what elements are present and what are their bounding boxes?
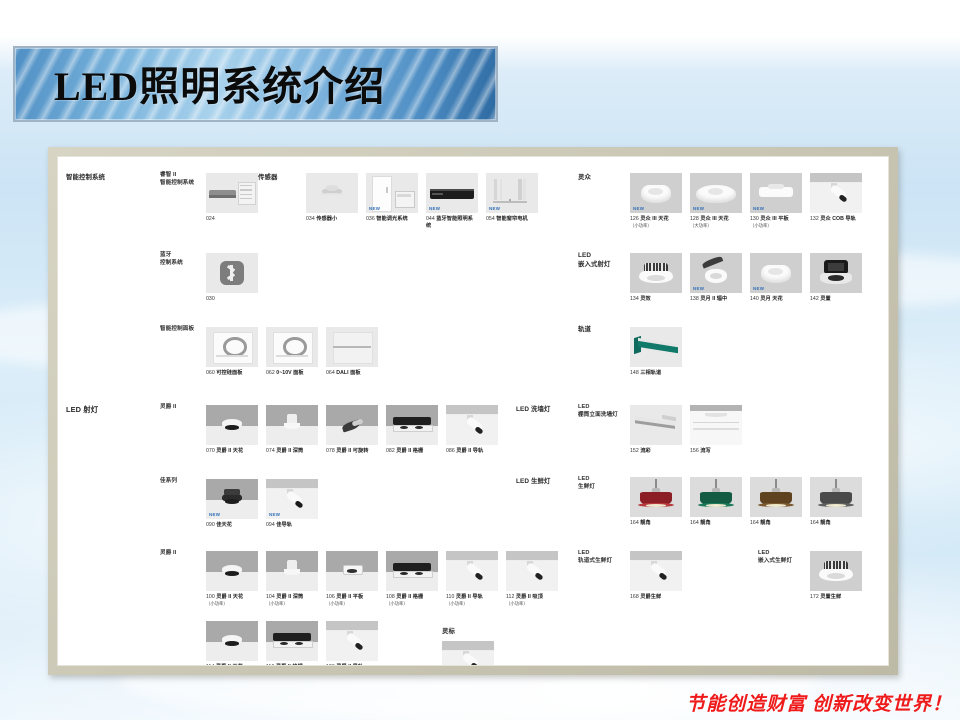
product-name: 靓角	[640, 520, 650, 526]
product-item[interactable]: 074 灵爵 II 深筒	[266, 405, 318, 455]
product-item[interactable]: NEW054 智能窗帘电机	[486, 173, 538, 230]
product-caption: 164 靓角	[690, 520, 742, 527]
catalog-sheet: 智能控制系统睿智 II 智能控制系统024蓝牙 控制系统030智能控制面板060…	[57, 156, 889, 666]
product-name: 智能调光系统	[376, 216, 407, 222]
product-caption: 082 灵爵 II 格栅	[386, 448, 438, 455]
product-thumbnail[interactable]: NEW	[266, 479, 318, 519]
product-caption: 164 靓角	[630, 520, 682, 527]
product-name: 靓角	[820, 520, 830, 526]
product-name: 灵爵 II 导轨	[456, 594, 483, 600]
product-thumbnail[interactable]: NEW	[750, 253, 802, 293]
product-caption: 100 灵爵 II 天花（小功率）	[206, 594, 258, 607]
product-note: （小功率）	[506, 601, 558, 607]
product-thumbnail[interactable]	[326, 551, 378, 591]
product-silhouette-downlight	[206, 551, 258, 591]
product-code: 054	[486, 216, 496, 222]
product-caption: 062 0~10V 面板	[266, 370, 318, 377]
product-thumbnail[interactable]: NEW	[690, 253, 742, 293]
product-silhouette-black-cob	[810, 253, 862, 293]
product-silhouette-grille-2	[386, 551, 438, 591]
product-caption: 132 灵众 COB 导轨	[810, 216, 862, 223]
product-item[interactable]: NEW094 佳导轨	[266, 479, 318, 529]
product-silhouette-dial-panel	[266, 327, 318, 367]
product-silhouette-deep-cup	[266, 551, 318, 591]
product-silhouette-downlight	[206, 405, 258, 445]
product-item[interactable]: 062 0~10V 面板	[266, 327, 318, 377]
product-code: 130	[750, 216, 760, 222]
product-item[interactable]: 064 DALI 面板	[326, 327, 378, 377]
product-item[interactable]: NEW128 灵众 III 天花（大功率）	[690, 173, 742, 229]
product-caption: 078 灵爵 II 可旋转	[326, 448, 378, 455]
product-code: 086	[446, 448, 456, 454]
product-thumbnail[interactable]	[690, 477, 742, 517]
product-name: 灵爵 II 导轨	[456, 448, 483, 454]
product-name: 灵爵 II 平板	[336, 594, 363, 600]
product-row: NEW126 灵众 III 天花（小功率）NEW128 灵众 III 天花（大功…	[630, 173, 870, 229]
product-silhouette-wallwasher	[630, 405, 682, 445]
product-caption: 172 灵置生鲜	[810, 594, 862, 601]
new-badge: NEW	[693, 206, 704, 211]
product-code: 064	[326, 370, 336, 376]
product-item[interactable]: 082 灵爵 II 格栅	[386, 405, 438, 455]
product-code: 112	[506, 594, 516, 600]
subcategory-label: 佳系列	[160, 477, 177, 485]
new-badge: NEW	[269, 512, 280, 517]
catalog-picture-frame: 智能控制系统睿智 II 智能控制系统024蓝牙 控制系统030智能控制面板060…	[48, 147, 898, 675]
product-row: 024	[206, 173, 266, 223]
product-item[interactable]: 168 灵爵生鲜	[630, 551, 682, 601]
product-caption: 036 智能调光系统	[366, 216, 418, 223]
product-code: 074	[266, 448, 276, 454]
product-code: 024	[206, 216, 215, 222]
product-item[interactable]: 112 灵爵 II 吸顶（小功率）	[506, 551, 558, 607]
product-thumbnail[interactable]	[810, 477, 862, 517]
product-name: 智能窗帘电机	[496, 216, 527, 222]
product-name: 传感器小	[316, 216, 337, 222]
product-name: 灵爵 II 吸顶	[516, 594, 543, 600]
product-row: 134 灵效NEW138 灵月 II 辐中NEW140 灵月 天花142 灵置	[630, 253, 870, 303]
product-code: 060	[206, 370, 216, 376]
product-thumbnail[interactable]	[326, 621, 378, 661]
product-code: 094	[266, 522, 276, 528]
product-thumbnail[interactable]	[442, 641, 494, 666]
product-thumbnail[interactable]: NEW	[206, 479, 258, 519]
product-thumbnail[interactable]	[206, 551, 258, 591]
slide-background: LED照明系统介绍 智能控制系统睿智 II 智能控制系统024蓝牙 控制系统03…	[0, 0, 960, 720]
product-code: 036	[366, 216, 376, 222]
product-thumbnail[interactable]: NEW	[630, 173, 682, 213]
product-item[interactable]: NEW130 灵众 III 平板（小功率）	[750, 173, 802, 229]
product-thumbnail[interactable]	[206, 405, 258, 445]
product-caption: 138 灵月 II 辐中	[690, 296, 742, 303]
product-thumbnail[interactable]	[630, 253, 682, 293]
product-item[interactable]: 152 流彩	[630, 405, 682, 455]
category-label: 灵众	[578, 173, 591, 182]
product-name: 灵爵 II 可旋转	[336, 448, 368, 454]
category-label: LED 射灯	[66, 405, 98, 416]
product-silhouette-pendant-brown	[750, 477, 802, 517]
product-thumbnail[interactable]	[630, 477, 682, 517]
product-row: 060 可控硅面板062 0~10V 面板064 DALI 面板	[206, 327, 386, 377]
product-item[interactable]: 086 灵爵 II 导轨	[446, 405, 498, 455]
product-note: （小功率）	[750, 223, 802, 229]
product-code: 164	[810, 520, 820, 526]
product-code: 132	[810, 216, 820, 222]
product-name: 灵月 II 辐中	[700, 296, 727, 302]
category-label: LED 生鲜灯	[516, 477, 550, 486]
product-name: 灵置生鲜	[820, 594, 841, 600]
product-code: 116	[266, 664, 276, 666]
product-item[interactable]: 164 靓角	[750, 477, 802, 527]
product-thumbnail[interactable]	[630, 551, 682, 591]
product-item[interactable]: NEW140 灵月 天花	[750, 253, 802, 303]
product-silhouette-grille-2	[266, 621, 318, 661]
new-badge: NEW	[369, 206, 380, 211]
category-label: 传感器	[258, 173, 277, 182]
new-badge: NEW	[693, 286, 704, 291]
product-caption: 120 灵爵 II 导轨（大功率）	[326, 664, 378, 666]
product-thumbnail[interactable]: NEW	[750, 173, 802, 213]
product-caption: 024	[206, 216, 258, 223]
product-code: 164	[750, 520, 760, 526]
product-thumbnail[interactable]	[326, 327, 378, 367]
product-row: 164 靓角164 靓角164 靓角164 靓角	[630, 477, 870, 527]
category-label: 智能控制系统	[66, 173, 105, 182]
subcategory-label: 灵爵 II	[160, 403, 176, 411]
product-thumbnail[interactable]: NEW	[426, 173, 478, 213]
product-code: 090	[206, 522, 216, 528]
subcategory-label: LED 轨道式生鲜灯	[578, 549, 612, 566]
product-code: 110	[446, 594, 456, 600]
product-code: 106	[326, 594, 336, 600]
product-code: 034	[306, 216, 316, 222]
product-name: 灵众 III 天花	[640, 216, 668, 222]
product-silhouette-track-spot	[446, 405, 498, 445]
product-code: 164	[630, 520, 640, 526]
product-thumbnail[interactable]	[266, 327, 318, 367]
product-name: 灵爵 II 天花	[216, 448, 243, 454]
product-name: 灵爵 II 天花	[216, 664, 243, 666]
product-note: （小功率）	[630, 223, 682, 229]
subcategory-label: 灵爵 II	[160, 549, 176, 557]
product-silhouette-track-spot	[442, 641, 494, 666]
product-item[interactable]: 078 灵爵 II 可旋转	[326, 405, 378, 455]
product-thumbnail[interactable]	[206, 173, 258, 213]
product-thumbnail[interactable]	[326, 405, 378, 445]
product-caption: 094 佳导轨	[266, 522, 318, 529]
product-code: 142	[810, 296, 820, 302]
category-label: LED 嵌入式射灯	[578, 251, 610, 270]
product-name: 佳导轨	[276, 522, 292, 528]
product-silhouette-flat-box	[326, 551, 378, 591]
product-row: 100 灵爵 II 天花（小功率）104 灵爵 II 深筒（小功率）106 灵爵…	[206, 551, 566, 607]
product-thumbnail[interactable]: NEW	[366, 173, 418, 213]
subcategory-label: LED 棚筒立面洗墙灯	[578, 403, 618, 420]
product-code: 156	[690, 448, 700, 454]
product-code: 082	[386, 448, 396, 454]
product-silhouette-driver-box	[206, 173, 258, 213]
category-label: 轨道	[578, 325, 591, 334]
product-code: 104	[266, 594, 276, 600]
product-caption: 134 灵效	[630, 296, 682, 303]
product-code: 078	[326, 448, 336, 454]
product-item[interactable]: 034 传感器小	[306, 173, 358, 230]
product-item[interactable]: 114 灵爵 II 天花（大功率）	[206, 621, 258, 666]
product-caption: 168 灵爵生鲜	[630, 594, 682, 601]
page-title: LED照明系统介绍	[54, 50, 494, 116]
product-item[interactable]: 024	[206, 173, 258, 223]
new-badge: NEW	[489, 206, 500, 211]
product-item[interactable]: NEW138 灵月 II 辐中	[690, 253, 742, 303]
product-item[interactable]: 070 灵爵 II 天花	[206, 405, 258, 455]
product-silhouette-track-spot	[446, 551, 498, 591]
product-note: （小功率）	[266, 601, 318, 607]
subcategory-label: LED 生鲜灯	[578, 475, 595, 492]
product-thumbnail[interactable]	[690, 405, 742, 445]
category-label: 灵标	[442, 627, 455, 636]
product-item[interactable]: 030	[206, 253, 258, 303]
product-row: 114 灵爵 II 天花（大功率）116 灵爵 II 格栅（大功率）120 灵爵…	[206, 621, 386, 666]
product-code: 108	[386, 594, 396, 600]
product-thumbnail[interactable]	[810, 173, 862, 213]
product-silhouette-dial-panel	[206, 327, 258, 367]
product-note: （小功率）	[386, 601, 438, 607]
product-name: 灵爵 II 导轨	[336, 664, 363, 666]
product-caption: 074 灵爵 II 深筒	[266, 448, 318, 455]
product-item[interactable]: 132 灵众 COB 导轨	[810, 173, 862, 229]
product-name: 靓角	[760, 520, 770, 526]
product-thumbnail[interactable]	[206, 253, 258, 293]
product-caption: 030	[206, 296, 258, 303]
product-caption: 128 灵众 III 天花（大功率）	[690, 216, 742, 229]
product-name: 佳天花	[216, 522, 232, 528]
product-thumbnail[interactable]	[810, 253, 862, 293]
product-silhouette-grille-2	[386, 405, 438, 445]
subcategory-label: LED 嵌入式生鲜灯	[758, 549, 792, 566]
product-item[interactable]: 148 三相轨道	[630, 327, 682, 377]
product-caption: 070 灵爵 II 天花	[206, 448, 258, 455]
product-item[interactable]: 104 灵爵 II 深筒（小功率）	[266, 551, 318, 607]
product-caption: 106 灵爵 II 平板（小功率）	[326, 594, 378, 607]
product-item[interactable]: 108 灵爵 II 格栅（小功率）	[386, 551, 438, 607]
product-name: 灵爵 II 深筒	[276, 594, 303, 600]
product-silhouette-track-spot-white	[810, 173, 862, 213]
product-code: 168	[630, 594, 640, 600]
product-caption: 104 灵爵 II 深筒（小功率）	[266, 594, 318, 607]
product-thumbnail[interactable]	[386, 405, 438, 445]
product-row: 152 流彩156 流写	[630, 405, 750, 455]
product-silhouette-pendant-red	[630, 477, 682, 517]
product-caption: 140 灵月 天花	[750, 296, 802, 303]
product-thumbnail[interactable]	[266, 621, 318, 661]
product-item[interactable]: 134 灵效	[630, 253, 682, 303]
product-code: 128	[690, 216, 700, 222]
new-badge: NEW	[429, 206, 440, 211]
product-caption: 090 佳天花	[206, 522, 258, 529]
product-row: 172 灵置生鲜	[810, 551, 870, 601]
product-thumbnail[interactable]: NEW	[486, 173, 538, 213]
product-name: 流彩	[640, 448, 650, 454]
product-name: 灵效	[640, 296, 650, 302]
product-silhouette-deep-cup	[266, 405, 318, 445]
product-silhouette-track-spot	[326, 621, 378, 661]
product-note: （小功率）	[206, 601, 258, 607]
product-item[interactable]: 164 靓角	[690, 477, 742, 527]
product-row: 034 传感器小NEW036 智能调光系统NEW044 蓝牙智能照明系统NEW0…	[306, 173, 546, 230]
product-caption: 164 靓角	[810, 520, 862, 527]
product-name: 靓角	[700, 520, 710, 526]
subcategory-label: 智能控制面板	[160, 325, 194, 333]
product-thumbnail[interactable]	[506, 551, 558, 591]
product-code: 134	[630, 296, 640, 302]
product-code: 044	[426, 216, 436, 222]
product-row: 122 灵标	[442, 641, 502, 666]
product-thumbnail[interactable]	[266, 551, 318, 591]
product-code: 070	[206, 448, 216, 454]
product-silhouette-flat-panel	[326, 327, 378, 367]
product-caption: 126 灵众 III 天花（小功率）	[630, 216, 682, 229]
product-item[interactable]: NEW044 蓝牙智能照明系统	[426, 173, 478, 230]
product-thumbnail[interactable]	[386, 551, 438, 591]
product-thumbnail[interactable]	[750, 477, 802, 517]
footer-slogan: 节能创造财富 创新改变世界！	[686, 689, 952, 716]
product-name: 灵爵 II 格栅	[396, 594, 423, 600]
product-code: 126	[630, 216, 640, 222]
product-name: 灵月 天花	[760, 296, 782, 302]
product-item[interactable]: 164 靓角	[630, 477, 682, 527]
product-code: 148	[630, 370, 640, 376]
product-silhouette-green-track	[630, 327, 682, 367]
product-code: 152	[630, 448, 640, 454]
product-caption: 110 灵爵 II 导轨（小功率）	[446, 594, 498, 607]
product-thumbnail[interactable]	[306, 173, 358, 213]
product-name: DALI 面板	[336, 370, 360, 376]
product-row: 148 三相轨道	[630, 327, 690, 377]
product-name: 灵爵 II 格栅	[276, 664, 303, 666]
product-name: 灵置	[820, 296, 830, 302]
product-thumbnail[interactable]	[266, 405, 318, 445]
product-thumbnail[interactable]	[810, 551, 862, 591]
product-name: 灵众 III 天花	[700, 216, 728, 222]
product-row: NEW090 佳天花NEW094 佳导轨	[206, 479, 326, 529]
product-caption: 114 灵爵 II 天花（大功率）	[206, 664, 258, 666]
product-note: （大功率）	[690, 223, 742, 229]
category-label: LED 洗墙灯	[516, 405, 550, 414]
product-silhouette-wallwash-plate	[690, 405, 742, 445]
new-badge: NEW	[633, 206, 644, 211]
product-item[interactable]: 100 灵爵 II 天花（小功率）	[206, 551, 258, 607]
product-caption: 086 灵爵 II 导轨	[446, 448, 498, 455]
product-code: 172	[810, 594, 820, 600]
product-name: 流写	[700, 448, 710, 454]
product-name: 三相轨道	[640, 370, 661, 376]
new-badge: NEW	[209, 512, 220, 517]
product-code: 120	[326, 664, 336, 666]
product-thumbnail[interactable]: NEW	[690, 173, 742, 213]
product-caption: 054 智能窗帘电机	[486, 216, 538, 223]
product-caption: 044 蓝牙智能照明系统	[426, 216, 478, 230]
product-note: （小功率）	[326, 601, 378, 607]
product-name: 灵爵 II 深筒	[276, 448, 303, 454]
product-caption: 064 DALI 面板	[326, 370, 378, 377]
product-item[interactable]: 120 灵爵 II 导轨（大功率）	[326, 621, 378, 666]
product-code: 164	[690, 520, 700, 526]
product-name: 灵爵 II 格栅	[396, 448, 423, 454]
product-caption: 116 灵爵 II 格栅（大功率）	[266, 664, 318, 666]
product-silhouette-track-spot-white	[630, 551, 682, 591]
product-item[interactable]: NEW126 灵众 III 天花（小功率）	[630, 173, 682, 229]
product-caption: 142 灵置	[810, 296, 862, 303]
product-thumbnail[interactable]	[206, 327, 258, 367]
product-name: 可控硅面板	[216, 370, 242, 376]
product-item[interactable]: 156 流写	[690, 405, 742, 455]
product-code: 100	[206, 594, 216, 600]
product-caption: 108 灵爵 II 格栅（小功率）	[386, 594, 438, 607]
product-caption: 130 灵众 III 平板（小功率）	[750, 216, 802, 229]
product-silhouette-downlight	[206, 621, 258, 661]
product-thumbnail[interactable]	[446, 405, 498, 445]
product-item[interactable]: 106 灵爵 II 平板（小功率）	[326, 551, 378, 607]
product-name: 灵众 COB 导轨	[820, 216, 856, 222]
product-note: （小功率）	[446, 601, 498, 607]
new-badge: NEW	[753, 206, 764, 211]
product-name: 灵爵 II 天花	[216, 594, 243, 600]
product-code: 030	[206, 296, 215, 302]
product-code: 140	[750, 296, 760, 302]
product-thumbnail[interactable]	[630, 327, 682, 367]
product-caption: 112 灵爵 II 吸顶（小功率）	[506, 594, 558, 607]
product-caption: 148 三相轨道	[630, 370, 682, 377]
product-caption: 034 传感器小	[306, 216, 358, 223]
product-code: 062	[266, 370, 276, 376]
product-item[interactable]: 122 灵标	[442, 641, 494, 666]
product-silhouette-pendant-grey	[810, 477, 862, 517]
product-silhouette-track-spot	[506, 551, 558, 591]
product-item[interactable]: 116 灵爵 II 格栅（大功率）	[266, 621, 318, 666]
product-row: 030	[206, 253, 266, 303]
product-row: 168 灵爵生鲜	[630, 551, 690, 601]
product-code: 138	[690, 296, 700, 302]
subcategory-label: 蓝牙 控制系统	[160, 251, 183, 268]
product-silhouette-pendant-green	[690, 477, 742, 517]
product-name: 灵爵生鲜	[640, 594, 661, 600]
product-item[interactable]: 060 可控硅面板	[206, 327, 258, 377]
product-caption: 060 可控硅面板	[206, 370, 258, 377]
product-item[interactable]: 110 灵爵 II 导轨（小功率）	[446, 551, 498, 607]
product-silhouette-sensor	[306, 173, 358, 213]
product-code: 114	[206, 664, 216, 666]
product-thumbnail[interactable]	[206, 621, 258, 661]
product-item[interactable]: 142 灵置	[810, 253, 862, 303]
product-silhouette-bluetooth-module	[206, 253, 258, 293]
product-item[interactable]: NEW090 佳天花	[206, 479, 258, 529]
new-badge: NEW	[753, 286, 764, 291]
product-item[interactable]: 172 灵置生鲜	[810, 551, 862, 601]
product-caption: 152 流彩	[630, 448, 682, 455]
product-item[interactable]: 164 靓角	[810, 477, 862, 527]
product-silhouette-gimbal	[326, 405, 378, 445]
product-name: 0~10V 面板	[276, 370, 303, 376]
product-item[interactable]: NEW036 智能调光系统	[366, 173, 418, 230]
product-thumbnail[interactable]	[630, 405, 682, 445]
product-caption: 164 靓角	[750, 520, 802, 527]
product-name: 灵众 III 平板	[760, 216, 788, 222]
product-silhouette-cob-module	[630, 253, 682, 293]
product-row: 070 灵爵 II 天花074 灵爵 II 深筒078 灵爵 II 可旋转082…	[206, 405, 506, 455]
product-silhouette-cob-module	[810, 551, 862, 591]
product-caption: 156 流写	[690, 448, 742, 455]
product-thumbnail[interactable]	[446, 551, 498, 591]
